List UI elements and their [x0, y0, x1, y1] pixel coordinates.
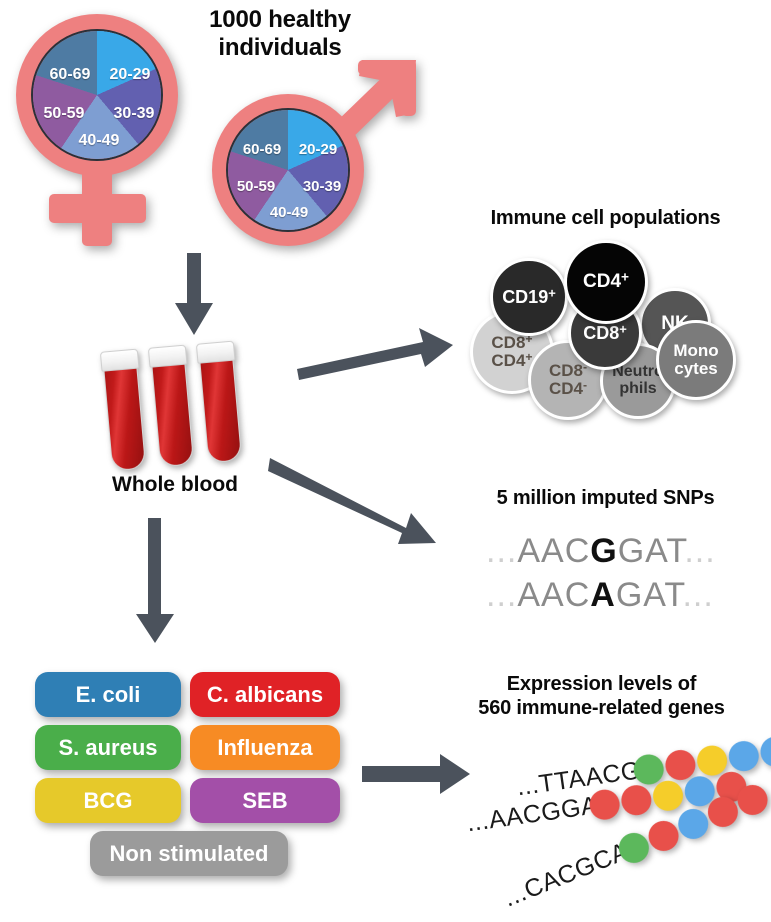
snp-row1-lead: ... [486, 532, 517, 570]
stimulation-label: Non stimulated [110, 841, 269, 867]
snp-row1-pre: AAC [517, 532, 590, 570]
pie-label-male-30-39: 30-39 [294, 178, 350, 195]
stimulation-label: E. coli [76, 682, 141, 708]
immune-cell-cd19-label: CD19+ [502, 288, 556, 307]
arrow-cohort-to-blood [170, 253, 220, 343]
immune-cell-cd8neg-cd4neg-line2: CD4- [549, 380, 587, 398]
blood-tubes [105, 340, 255, 475]
pie-label-20-29: 20-29 [101, 66, 159, 84]
stimulation-label: Influenza [217, 735, 312, 761]
expression-title-line2: 560 immune-related genes [432, 697, 771, 721]
rna-bead [727, 739, 761, 773]
immune-cell-cd4: CD4+ [564, 240, 648, 324]
stimulation-label: BCG [84, 788, 133, 814]
snp-row2-lead: ... [486, 576, 517, 614]
male-symbol: 20-29 30-39 40-49 50-59 60-69 [208, 58, 418, 253]
snp-row1-post: GAT [618, 532, 685, 570]
snp-sequence-row: ...AACGGAT... [486, 532, 716, 571]
blood-tube-body [103, 362, 146, 472]
stimulation-box-influenza[interactable]: Influenza [190, 725, 340, 770]
snp-sequences: ...AACGGAT... ...AACAGAT... [486, 532, 746, 622]
blood-tube-cap [196, 341, 236, 364]
blood-tube [100, 349, 148, 472]
stimulation-box-s-aureus[interactable]: S. aureus [35, 725, 181, 770]
blood-tube-cap [100, 349, 140, 372]
pie-label-30-39: 30-39 [105, 105, 163, 123]
pie-label-50-59: 50-59 [35, 105, 93, 123]
immune-cell-cd8-label: CD8+ [583, 324, 627, 343]
immune-title: Immune cell populations [440, 207, 771, 231]
snp-sequence-row: ...AACAGAT... [486, 576, 714, 615]
male-age-pie: 20-29 30-39 40-49 50-59 60-69 [226, 108, 350, 232]
snp-row2-pre: AAC [517, 576, 590, 614]
snp-row2-variant: A [590, 576, 616, 614]
immune-cell-cd19: CD19+ [490, 258, 568, 336]
snp-row1-trail: ... [684, 532, 715, 570]
expression-strands: ...TTAACGG ...AACGGAT ...CACGCAA [455, 735, 771, 915]
snp-row2-trail: ... [682, 576, 713, 614]
arrow-blood-to-stimulations [132, 518, 182, 648]
stimulation-box-c-albicans[interactable]: C. albicans [190, 672, 340, 717]
female-symbol: 20-29 30-39 40-49 50-59 60-69 [8, 8, 198, 248]
immune-cell-monocytes-line2: cytes [674, 360, 717, 378]
pie-label-male-50-59: 50-59 [228, 178, 284, 195]
pie-label-male-60-69: 60-69 [234, 141, 290, 158]
stimulation-label: C. albicans [207, 682, 323, 708]
pie-label-male-20-29: 20-29 [290, 141, 346, 158]
rna-bead [651, 779, 685, 813]
immune-cell-cd8pos-cd4pos-line2: CD4+ [491, 352, 532, 370]
immune-cell-neutrophils-line2: phils [619, 381, 656, 398]
immune-cell-cluster: CD4+ CD19+ NK CD8+ CD8+ CD4+ [470, 240, 760, 420]
female-age-pie: 20-29 30-39 40-49 50-59 60-69 [31, 29, 163, 161]
blood-tube [148, 345, 196, 468]
blood-tube-cap [148, 345, 188, 368]
stimulation-box-non-stimulated[interactable]: Non stimulated [90, 831, 288, 876]
arrow-blood-to-immune [295, 325, 455, 385]
pie-label-40-49: 40-49 [70, 132, 128, 150]
immune-cell-monocytes: Mono cytes [656, 320, 736, 400]
arrow-blood-to-snps [268, 445, 448, 555]
stimulation-box-e-coli[interactable]: E. coli [35, 672, 181, 717]
stimulation-label: SEB [242, 788, 287, 814]
expression-title: Expression levels of 560 immune-related … [432, 673, 771, 720]
expression-title-line1: Expression levels of [432, 673, 771, 697]
snp-title: 5 million imputed SNPs [440, 487, 771, 511]
immune-cell-monocytes-line1: Mono [673, 342, 718, 360]
snp-row2-post: GAT [616, 576, 683, 614]
pie-label-male-40-49: 40-49 [261, 204, 317, 221]
stimulation-panel: E. coli C. albicans S. aureus Influenza … [30, 672, 350, 897]
snp-row1-variant: G [590, 532, 617, 570]
blood-tube-body [151, 358, 194, 468]
rna-bead [619, 783, 653, 817]
figure-canvas: 1000 healthy individuals 20-29 30-39 40-… [0, 0, 771, 922]
immune-cell-cd8neg-cd4neg-line1: CD8- [549, 362, 587, 380]
pie-label-60-69: 60-69 [41, 66, 99, 84]
stimulation-box-bcg[interactable]: BCG [35, 778, 181, 823]
stimulation-box-seb[interactable]: SEB [190, 778, 340, 823]
rna-bead [733, 780, 771, 819]
blood-tube-body [199, 354, 242, 464]
female-symbol-crossbar [49, 194, 146, 223]
immune-cell-cd4-label: CD4+ [583, 272, 629, 292]
stimulation-label: S. aureus [58, 735, 157, 761]
whole-blood-label: Whole blood [70, 473, 280, 497]
rna-bead [759, 735, 771, 769]
blood-tube [196, 341, 244, 464]
